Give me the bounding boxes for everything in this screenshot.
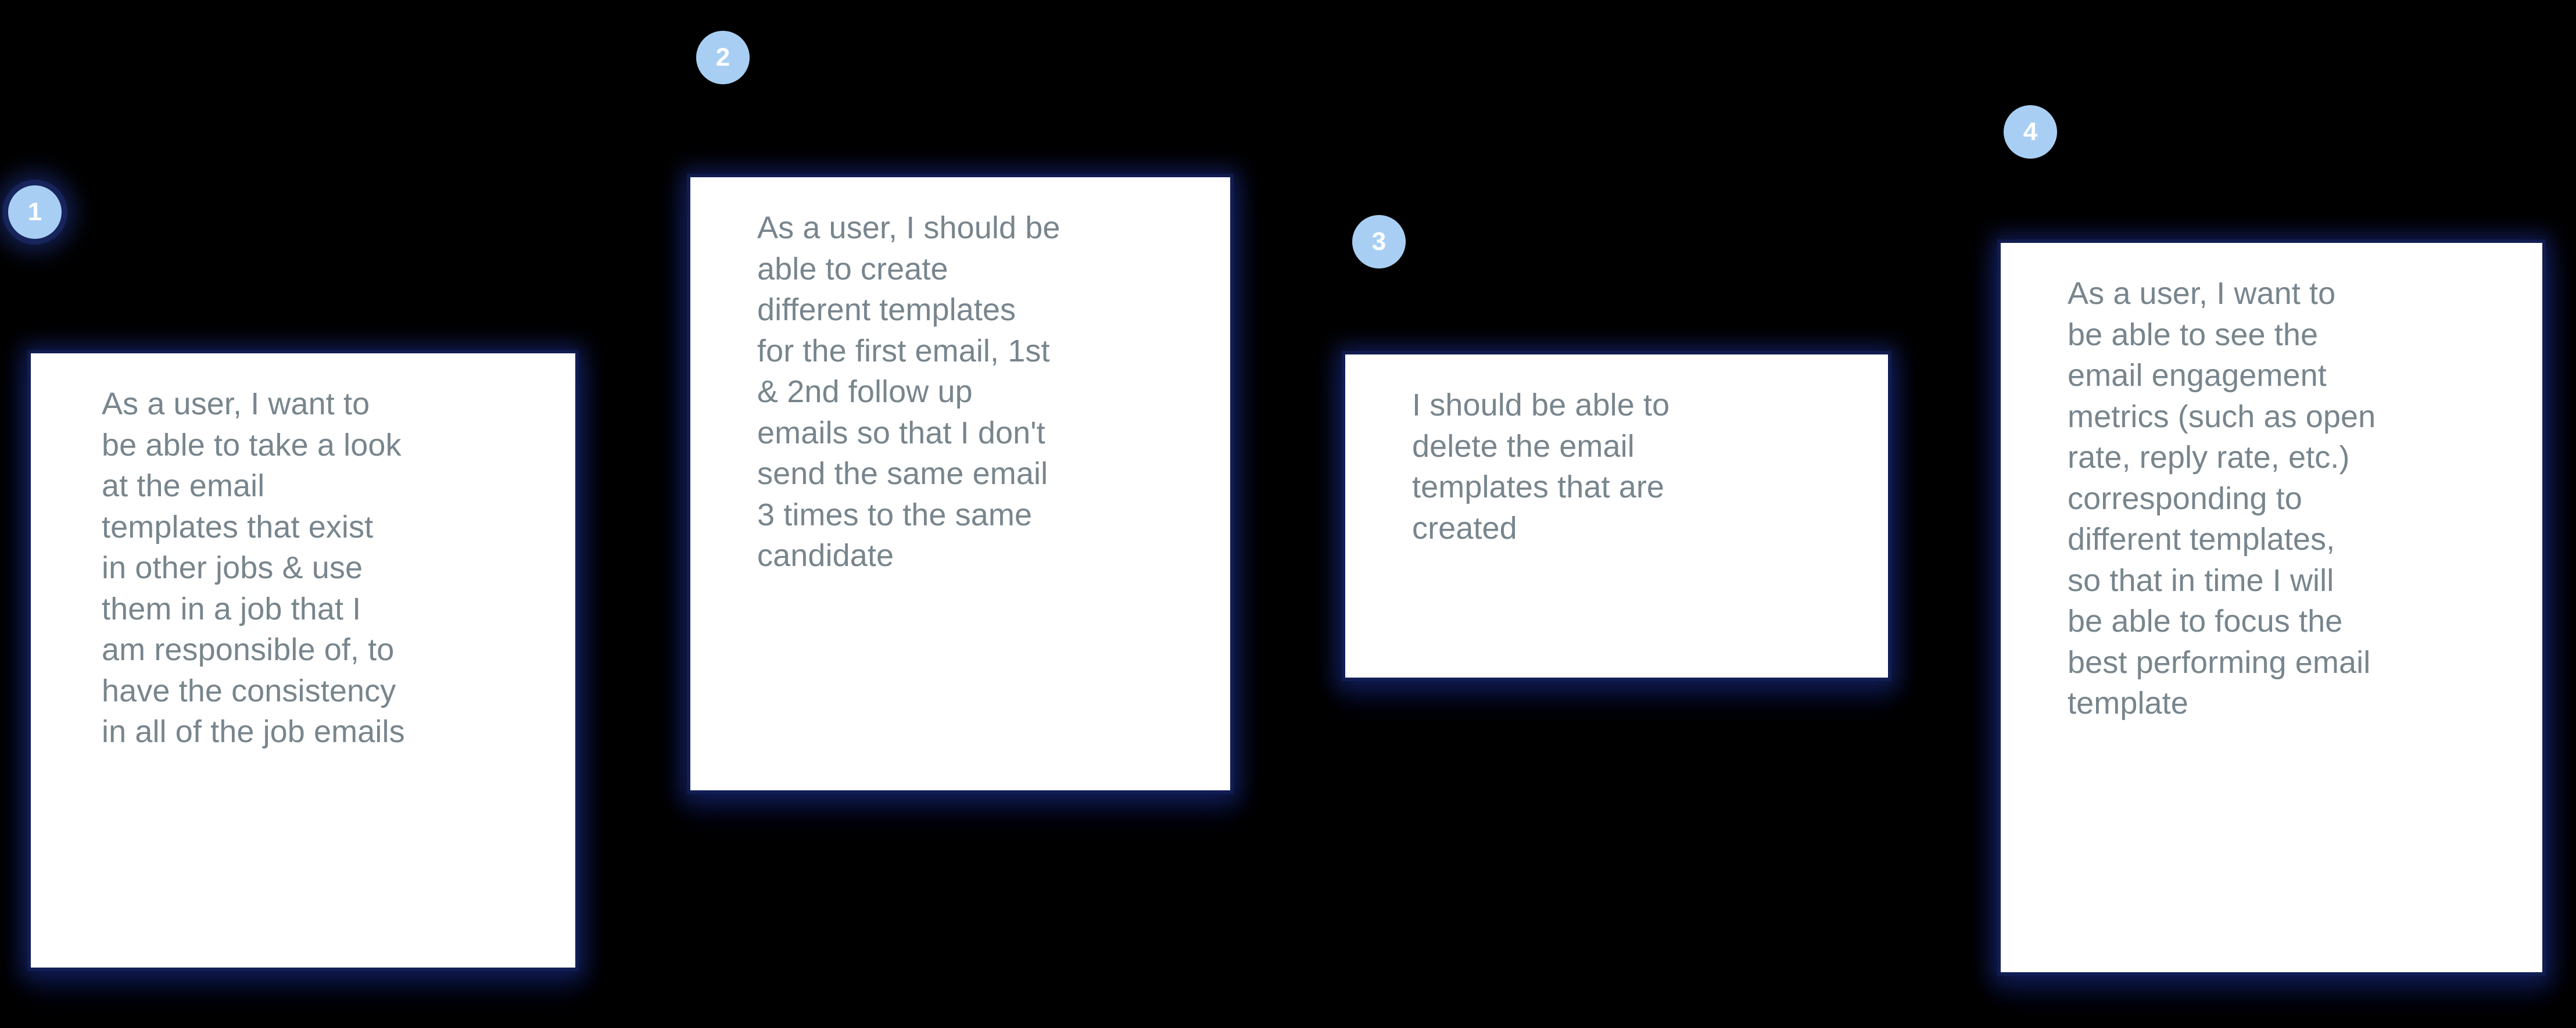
card-badge-4[interactable]: 4 xyxy=(2004,105,2057,159)
sticky-note-card-3-text: I should be able to delete the email tem… xyxy=(1412,385,1853,549)
sticky-note-board: 1 As a user, I want to be able to take a… xyxy=(0,0,2576,1028)
card-badge-2[interactable]: 2 xyxy=(696,31,750,84)
card-badge-3-label: 3 xyxy=(1372,229,1386,255)
sticky-note-card-2[interactable]: As a user, I should be able to create di… xyxy=(690,177,1230,790)
card-badge-1[interactable]: 1 xyxy=(8,185,62,239)
card-badge-1-label: 1 xyxy=(28,199,42,225)
card-badge-3[interactable]: 3 xyxy=(1352,215,1406,268)
card-badge-2-label: 2 xyxy=(716,45,730,70)
sticky-note-card-4[interactable]: As a user, I want to be able to see the … xyxy=(2001,243,2542,972)
sticky-note-card-1[interactable]: As a user, I want to be able to take a l… xyxy=(31,353,575,968)
sticky-note-card-1-text: As a user, I want to be able to take a l… xyxy=(102,384,536,753)
sticky-note-card-2-text: As a user, I should be able to create di… xyxy=(757,207,1195,576)
card-badge-4-label: 4 xyxy=(2023,119,2037,145)
sticky-note-card-3[interactable]: I should be able to delete the email tem… xyxy=(1345,354,1888,678)
sticky-note-card-4-text: As a user, I want to be able to see the … xyxy=(2068,273,2507,724)
